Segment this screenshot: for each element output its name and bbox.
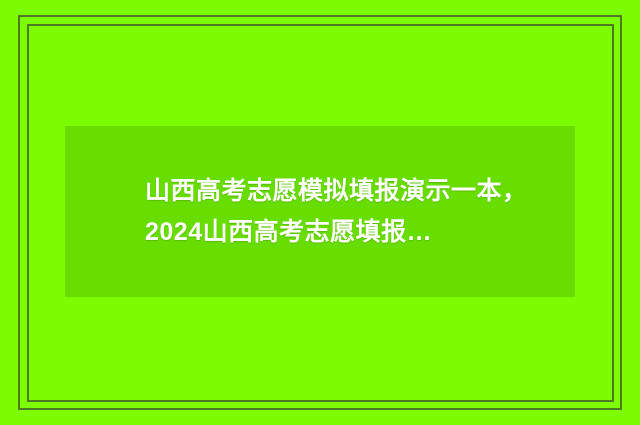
page-title: 山西高考志愿模拟填报演示一本， 2024山西高考志愿填报… [145, 171, 528, 252]
poster-canvas: 山西高考志愿模拟填报演示一本， 2024山西高考志愿填报… [0, 0, 640, 425]
caption-band: 山西高考志愿模拟填报演示一本， 2024山西高考志愿填报… [65, 126, 575, 297]
